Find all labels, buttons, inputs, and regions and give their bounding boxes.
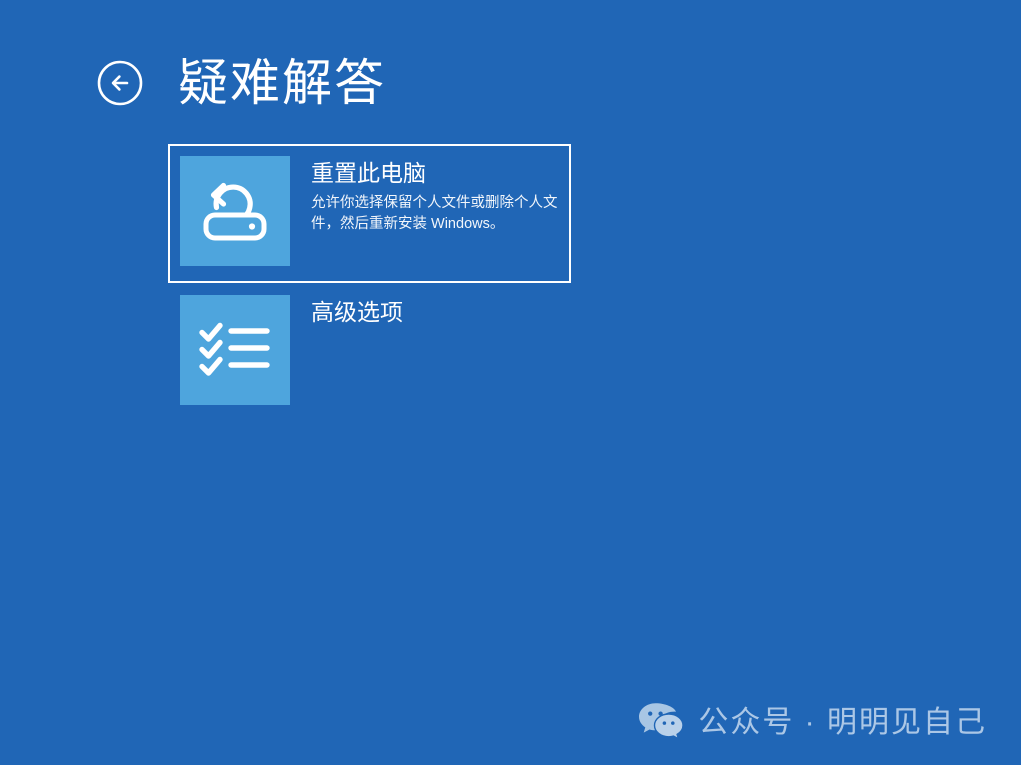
watermark-text: 公众号 · 明明见自己 <box>698 706 987 740</box>
tile-icon-container <box>180 295 290 405</box>
page-title: 疑难解答 <box>178 57 386 110</box>
checklist-icon <box>199 320 271 380</box>
troubleshoot-screen: { "screen": { "background_color": "#2066… <box>0 0 1021 765</box>
back-arrow-circle-icon <box>96 59 144 107</box>
tile-icon-container <box>180 156 290 266</box>
option-tile-list: 重置此电脑 允许你选择保留个人文件或删除个人文件，然后重新安装 Windows。 <box>168 144 788 422</box>
tile-heading: 高级选项 <box>311 297 559 327</box>
tile-reset-this-pc[interactable]: 重置此电脑 允许你选择保留个人文件或删除个人文件，然后重新安装 Windows。 <box>168 144 571 283</box>
tile-advanced-options[interactable]: 高级选项 <box>168 283 571 422</box>
reset-pc-icon <box>196 174 274 248</box>
tile-heading: 重置此电脑 <box>311 158 559 188</box>
tile-description: 允许你选择保留个人文件或删除个人文件，然后重新安装 Windows。 <box>311 193 559 235</box>
tile-text-block: 重置此电脑 允许你选择保留个人文件或删除个人文件，然后重新安装 Windows。 <box>290 156 559 235</box>
wechat-icon <box>638 700 684 745</box>
watermark: 公众号 · 明明见自己 <box>638 700 987 745</box>
back-button[interactable] <box>96 59 144 107</box>
page-header: 疑难解答 <box>96 48 386 118</box>
tile-text-block: 高级选项 <box>290 295 559 332</box>
